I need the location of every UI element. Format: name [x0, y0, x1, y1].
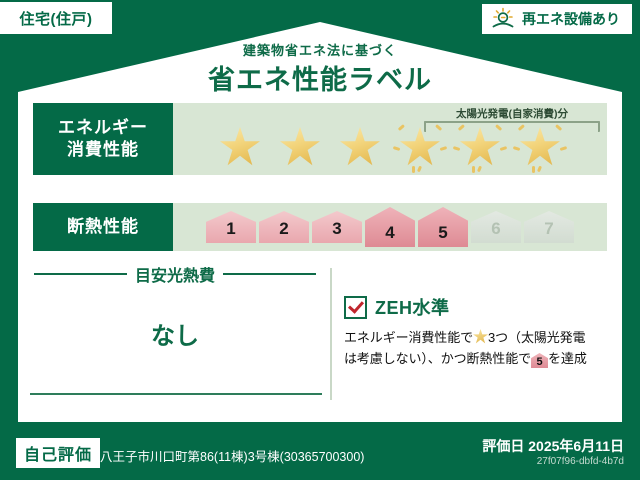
star-ray	[532, 166, 535, 173]
zeh-checkbox-checked-icon	[344, 296, 367, 319]
insulation-performance-row: 断熱性能 1234567	[33, 203, 607, 251]
star-ray	[440, 146, 448, 151]
insulation-key-line1: 断熱性能	[67, 216, 139, 238]
property-address: 八王子市川口町第86(11棟)3号棟(30365700300)	[100, 446, 364, 465]
energy-star-rating	[173, 113, 607, 173]
star-ray	[458, 124, 465, 131]
insulation-level-1: 1	[206, 211, 256, 243]
energy-performance-row: エネルギー 消費性能 太陽光発電(自家消費)分	[33, 103, 607, 175]
star-ray	[472, 166, 475, 173]
insulation-level-badge: 5	[531, 353, 548, 368]
evaluation-type-tag: 自己評価	[16, 438, 100, 468]
estimated-utility-cost-block: 目安光熱費 なし	[34, 262, 316, 351]
zeh-standard-description: エネルギー消費性能で3つ（太陽光発電 は考慮しない）、かつ断熱性能で5を達成	[344, 327, 606, 369]
renewable-energy-label: 再エネ設備あり	[522, 9, 620, 29]
energy-performance-value: 太陽光発電(自家消費)分	[173, 103, 607, 175]
star-shape	[460, 127, 500, 167]
sun-icon	[490, 7, 516, 31]
zeh-desc-star-count: 3つ（太陽光発電	[488, 330, 585, 345]
star-icon	[212, 117, 268, 173]
energy-key-line1: エネルギー	[58, 117, 148, 139]
insulation-level-3: 3	[312, 211, 362, 243]
zeh-desc-part1: エネルギー消費性能で	[344, 330, 473, 345]
evaluation-id: 27f07f96-dbfd-4b7d	[537, 456, 624, 467]
header-subtitle: 建築物省エネ法に基づく	[0, 40, 640, 59]
star-icon	[332, 117, 388, 173]
star-ray	[398, 124, 405, 131]
star-shape	[280, 127, 320, 167]
rule-left	[34, 273, 127, 275]
insulation-level-scale: 1234567	[173, 203, 607, 251]
zeh-standard-header: ZEH水準	[344, 294, 606, 320]
label-root: 住宅(住戸) 再エネ設備あり 建築物省エネ法に基づく 省エネ性能ラベル	[0, 0, 640, 480]
insulation-performance-value: 1234567	[173, 203, 607, 251]
rule-right	[223, 273, 316, 275]
insulation-level-7: 7	[524, 211, 574, 243]
star-ray	[417, 166, 422, 173]
insulation-level-6: 6	[471, 211, 521, 243]
energy-key-line2: 消費性能	[67, 139, 139, 161]
star-shape	[220, 127, 260, 167]
insulation-level-4: 4	[365, 207, 415, 247]
insulation-performance-key: 断熱性能	[33, 203, 173, 251]
zeh-standard-block: ZEH水準 エネルギー消費性能で3つ（太陽光発電 は考慮しない）、かつ断熱性能で…	[344, 294, 606, 369]
star-icon	[272, 117, 328, 173]
housing-type-tag: 住宅(住戸)	[0, 2, 112, 34]
estimated-utility-cost-title: 目安光熱費	[135, 262, 215, 286]
star-ray	[477, 166, 482, 173]
housing-type-label: 住宅(住戸)	[20, 8, 93, 29]
insulation-level-2: 2	[259, 211, 309, 243]
energy-performance-key: エネルギー 消費性能	[33, 103, 173, 175]
zeh-standard-title: ZEH水準	[375, 294, 450, 320]
insulation-level-5: 5	[418, 207, 468, 247]
star-ray	[453, 146, 461, 151]
star-ray	[518, 124, 525, 131]
star-shape	[400, 127, 440, 167]
star-ray	[435, 124, 442, 131]
vertical-divider	[330, 268, 332, 400]
star-ray	[537, 166, 542, 173]
star-shape	[520, 127, 560, 167]
star-ray	[412, 166, 415, 173]
zeh-desc-part2: は考慮しない）、かつ断熱性能で	[344, 351, 531, 366]
estimated-utility-cost-header: 目安光熱費	[34, 262, 316, 286]
star-icon-solar	[512, 117, 568, 173]
star-shape	[340, 127, 380, 167]
star-ray	[513, 146, 521, 151]
star-ray	[560, 146, 568, 151]
cost-bottom-rule	[30, 393, 322, 395]
star-ray	[500, 146, 508, 151]
star-icon-solar	[392, 117, 448, 173]
estimated-utility-cost-value: なし	[34, 316, 316, 351]
renewable-energy-badge: 再エネ設備あり	[482, 4, 632, 34]
evaluation-date: 評価日 2025年6月11日	[482, 436, 624, 456]
page-title: 省エネ性能ラベル	[0, 58, 640, 97]
star-ray	[393, 146, 401, 151]
zeh-desc-part3: を達成	[548, 351, 587, 366]
star-ray	[495, 124, 502, 131]
star-icon-solar	[452, 117, 508, 173]
star-ray	[555, 124, 562, 131]
star-icon	[473, 329, 488, 344]
